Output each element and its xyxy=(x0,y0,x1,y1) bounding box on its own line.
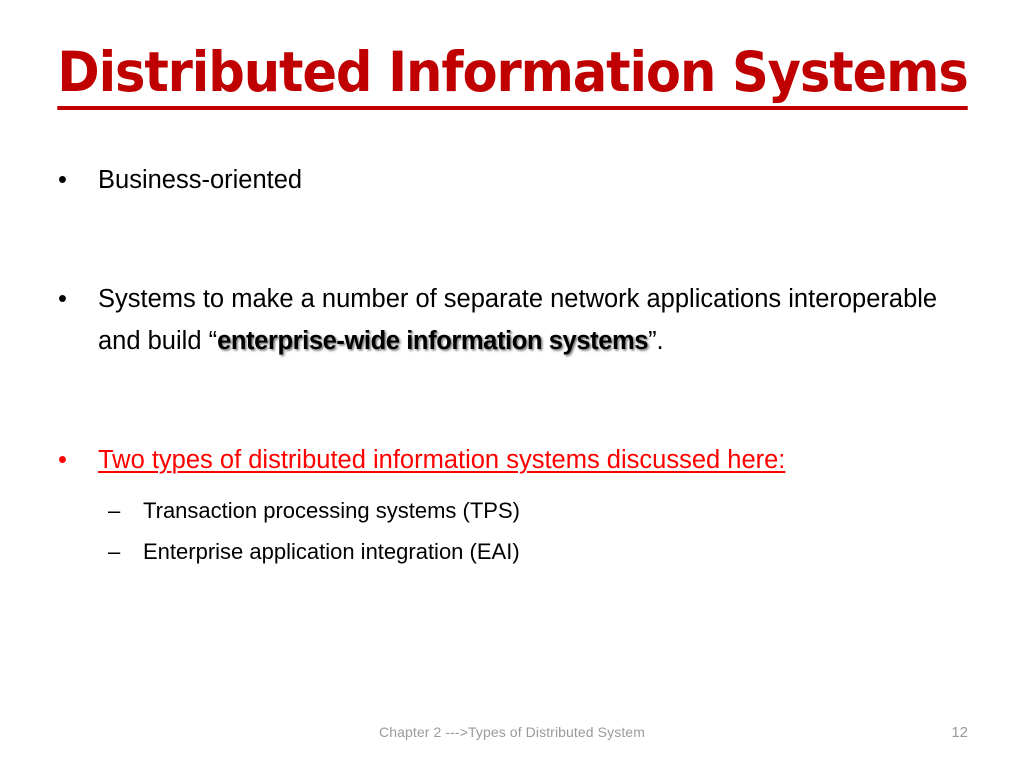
dash-marker-icon: – xyxy=(108,536,120,567)
bullet-text: Systems to make a number of separate net… xyxy=(98,285,937,354)
sub-bullet-item-tps: – Transaction processing systems (TPS) xyxy=(0,495,1024,526)
bullet-segment-emphasis: enterprise-wide information systems xyxy=(217,327,648,355)
sub-bullet-label: Enterprise application integration (EAI) xyxy=(143,539,520,564)
dash-marker-icon: – xyxy=(108,495,120,526)
sub-bullet-label: Transaction processing systems (TPS) xyxy=(143,498,520,523)
sub-bullet-item-eai: – Enterprise application integration (EA… xyxy=(0,536,1024,567)
bullet-text: Business-oriented xyxy=(98,166,302,194)
bullet-marker-icon: • xyxy=(58,440,67,481)
page-number: 12 xyxy=(951,724,968,741)
slide-body: • Business-oriented • Systems to make a … xyxy=(0,160,1024,568)
bullet-item-two-types: • Two types of distributed information s… xyxy=(0,440,1024,481)
slide-canvas: Distributed Information Systems • Busine… xyxy=(0,0,1024,768)
bullet-marker-icon: • xyxy=(58,160,67,201)
page-title: Distributed Information Systems xyxy=(57,44,967,110)
bullet-marker-icon: • xyxy=(58,279,67,320)
bullet-item-business-oriented: • Business-oriented xyxy=(0,160,1024,201)
title-block: Distributed Information Systems xyxy=(0,44,1024,110)
sub-bullet-list: – Transaction processing systems (TPS) –… xyxy=(0,495,1024,567)
bullet-segment-plain: Business-oriented xyxy=(98,166,302,194)
bullet-segment-plain-tail: ”. xyxy=(648,327,664,355)
bullet-segment-underlined: Two types of distributed information sys… xyxy=(98,446,785,474)
bullet-item-interoperable-systems: • Systems to make a number of separate n… xyxy=(0,279,1024,362)
bullet-text: Two types of distributed information sys… xyxy=(98,446,785,474)
slide-footer: Chapter 2 --->Types of Distributed Syste… xyxy=(0,724,1024,746)
footer-note: Chapter 2 --->Types of Distributed Syste… xyxy=(0,724,1024,740)
